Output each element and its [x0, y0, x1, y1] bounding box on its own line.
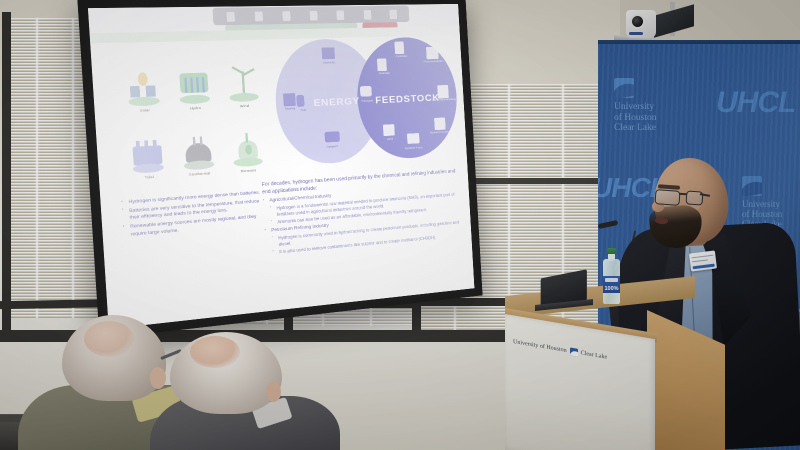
- banner-logo-line: Clear Lake: [614, 123, 657, 134]
- biomass-icon: [229, 131, 265, 167]
- tidal-icon: [129, 136, 167, 174]
- banner-logo-block: University of Houston Clear Lake: [614, 78, 657, 134]
- slide-body-text: For decades, hydrogen has been used prim…: [261, 167, 464, 307]
- venn-icon-pharmaceuticals: Pharmaceuticals: [426, 47, 439, 61]
- slide-bullet-list: Agricultural/Chemical Industry Hydrogen …: [263, 183, 462, 256]
- chat-icon[interactable]: [310, 10, 318, 20]
- lectern-side-panel: [647, 310, 725, 450]
- share-screen-icon[interactable]: [337, 10, 345, 20]
- laptop-computer: [535, 274, 593, 308]
- record-icon[interactable]: [363, 10, 371, 19]
- icon-cell-hydro: Hydro: [168, 46, 220, 111]
- icon-label: Solar: [140, 108, 150, 113]
- venn-icon-electricity: Electricity: [321, 47, 335, 61]
- eyeglasses-lens-left: [655, 189, 681, 206]
- venn-icon-transport: Transport: [325, 131, 339, 145]
- window-mullion-vertical-1: [2, 12, 11, 332]
- venn-icon-materials: Materials: [377, 58, 390, 72]
- scalp: [84, 321, 134, 357]
- geothermal-icon: [180, 134, 217, 171]
- solar-icon: [124, 70, 162, 107]
- venn-icon-chemicals: Chemicals: [394, 41, 407, 55]
- projection-screen: Solar Hydro: [77, 0, 482, 339]
- icon-label: Wind: [240, 104, 249, 109]
- venn-icon-metals-processing: Metals Processing: [434, 117, 447, 131]
- powerpoint-slide: Solar Hydro: [90, 26, 475, 329]
- energy-source-icon-grid: Solar Hydro: [111, 40, 276, 185]
- name-badge: [689, 250, 717, 271]
- icon-cell-geothermal: Geothermal: [172, 111, 223, 177]
- icon-cell-solar: Solar: [116, 47, 169, 113]
- camera-lens-icon: [630, 14, 645, 29]
- screen-surface: Solar Hydro: [88, 4, 475, 329]
- icon-label: Biomass: [241, 168, 257, 173]
- ear: [266, 382, 281, 402]
- video-icon[interactable]: [255, 11, 263, 21]
- icon-label: Geothermal: [189, 171, 211, 177]
- energy-feedstock-venn-diagram: ENERGY FEEDSTOCK Electricity Heating Fue…: [271, 30, 461, 175]
- venn-icon-steel: Steel: [383, 124, 396, 138]
- venn-icon-fuel: Fuel: [296, 95, 310, 109]
- venn-icon-synthetic-fuels: Synthetic Fuels: [407, 133, 420, 147]
- camera-indicator: [629, 32, 643, 35]
- water-bottle: 100%: [603, 248, 620, 304]
- slide-left-bullet-list: Hydrogen is significantly more energy de…: [121, 187, 264, 239]
- venn-icon-overlap-transport: Transport: [360, 86, 373, 100]
- icon-cell-tidal: Tidal: [121, 114, 174, 181]
- banner-logo-line: University: [614, 102, 657, 113]
- uhcl-logo-mark-icon: [570, 347, 578, 356]
- icon-label: Tidal: [144, 175, 154, 180]
- scalp: [190, 336, 240, 368]
- banner-logo-text: University of Houston Clear Lake: [614, 102, 657, 134]
- leave-icon[interactable]: [389, 9, 397, 18]
- hydro-icon: [175, 68, 212, 104]
- audience-member-front-right: [150, 332, 340, 450]
- wind-icon: [225, 67, 261, 103]
- bottle-label-text: 100%: [604, 286, 618, 292]
- icon-cell-wind: Wind: [218, 45, 268, 109]
- presentation-room-photo: Solar Hydro: [0, 0, 800, 450]
- bottle-label: 100%: [603, 276, 620, 293]
- icon-label: Hydro: [190, 106, 201, 111]
- icon-cell-biomass: Biomass: [222, 109, 272, 174]
- mute-icon[interactable]: [227, 11, 236, 21]
- uhcl-logo-mark-icon: [614, 78, 634, 98]
- banner-wordmark: UHCL: [716, 86, 795, 120]
- banner-logo-line: of Houston: [614, 113, 657, 124]
- venn-icon-heating: Heating: [283, 93, 297, 107]
- lectern-front-panel: [505, 314, 655, 450]
- lectern: University of Houston Clear Lake 100%: [505, 296, 720, 450]
- participants-icon[interactable]: [283, 11, 291, 21]
- venn-icon-glass-manufacturing: Glass Manufacturing: [437, 85, 450, 99]
